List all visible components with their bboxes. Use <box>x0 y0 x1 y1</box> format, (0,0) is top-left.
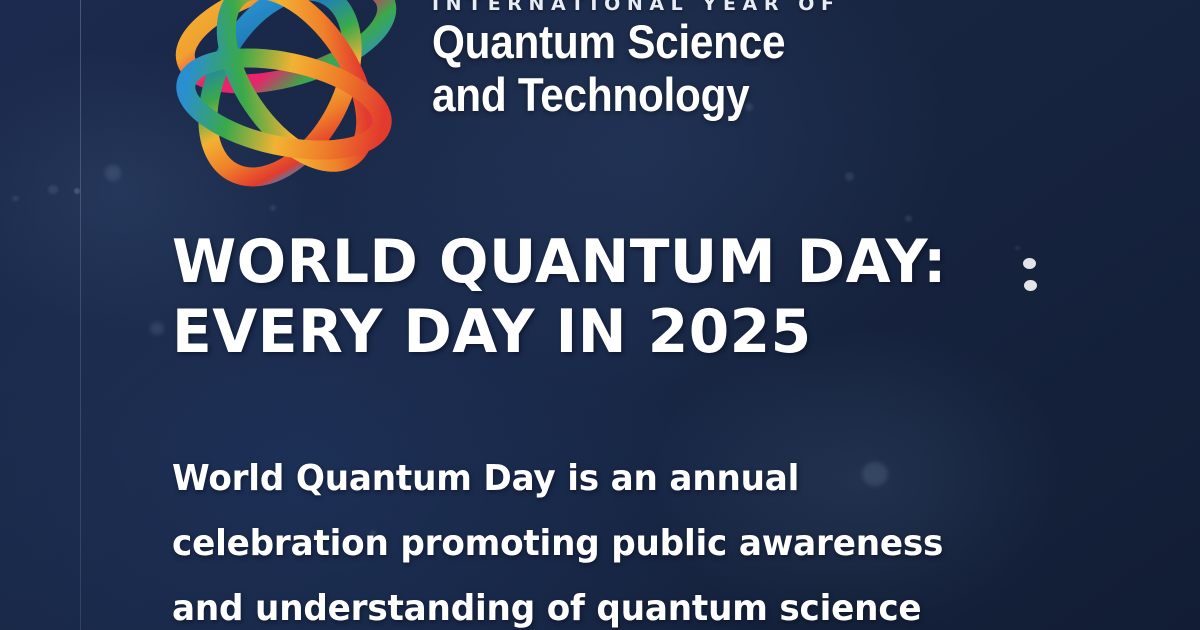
quantum-atom-logo-icon <box>168 0 408 196</box>
headline-line-1: WORLD QUANTUM DAY: <box>172 228 947 298</box>
description-line-2: celebration promoting public awareness <box>172 511 1027 576</box>
logo-title-line-1: Quantum Science <box>432 15 800 69</box>
description-line-3: and understanding of quantum science <box>172 576 1027 630</box>
particle <box>1023 258 1036 269</box>
particle <box>12 196 19 201</box>
particle <box>150 322 164 335</box>
left-divider-line <box>80 0 81 630</box>
particle <box>905 215 912 222</box>
particle <box>105 165 121 181</box>
logo-eyebrow: INTERNATIONAL YEAR OF <box>432 0 841 15</box>
logo-wordmark: INTERNATIONAL YEAR OF Quantum Science an… <box>432 0 841 122</box>
particle <box>1015 246 1020 250</box>
headline-line-2: EVERY DAY IN 2025 <box>172 298 947 368</box>
particle <box>270 205 276 211</box>
particle <box>48 185 58 194</box>
particle <box>1024 280 1037 291</box>
description-line-1: World Quantum Day is an annual <box>172 446 1027 511</box>
particle <box>845 172 854 181</box>
description-text: World Quantum Day is an annual celebrati… <box>172 446 1072 630</box>
logo-title-line-2: and Technology <box>432 68 800 122</box>
world-quantum-day-poster: INTERNATIONAL YEAR OF Quantum Science an… <box>0 0 1200 630</box>
iyq-logo-lockup: INTERNATIONAL YEAR OF Quantum Science an… <box>168 0 841 196</box>
page-title: WORLD QUANTUM DAY: EVERY DAY IN 2025 <box>172 228 971 367</box>
